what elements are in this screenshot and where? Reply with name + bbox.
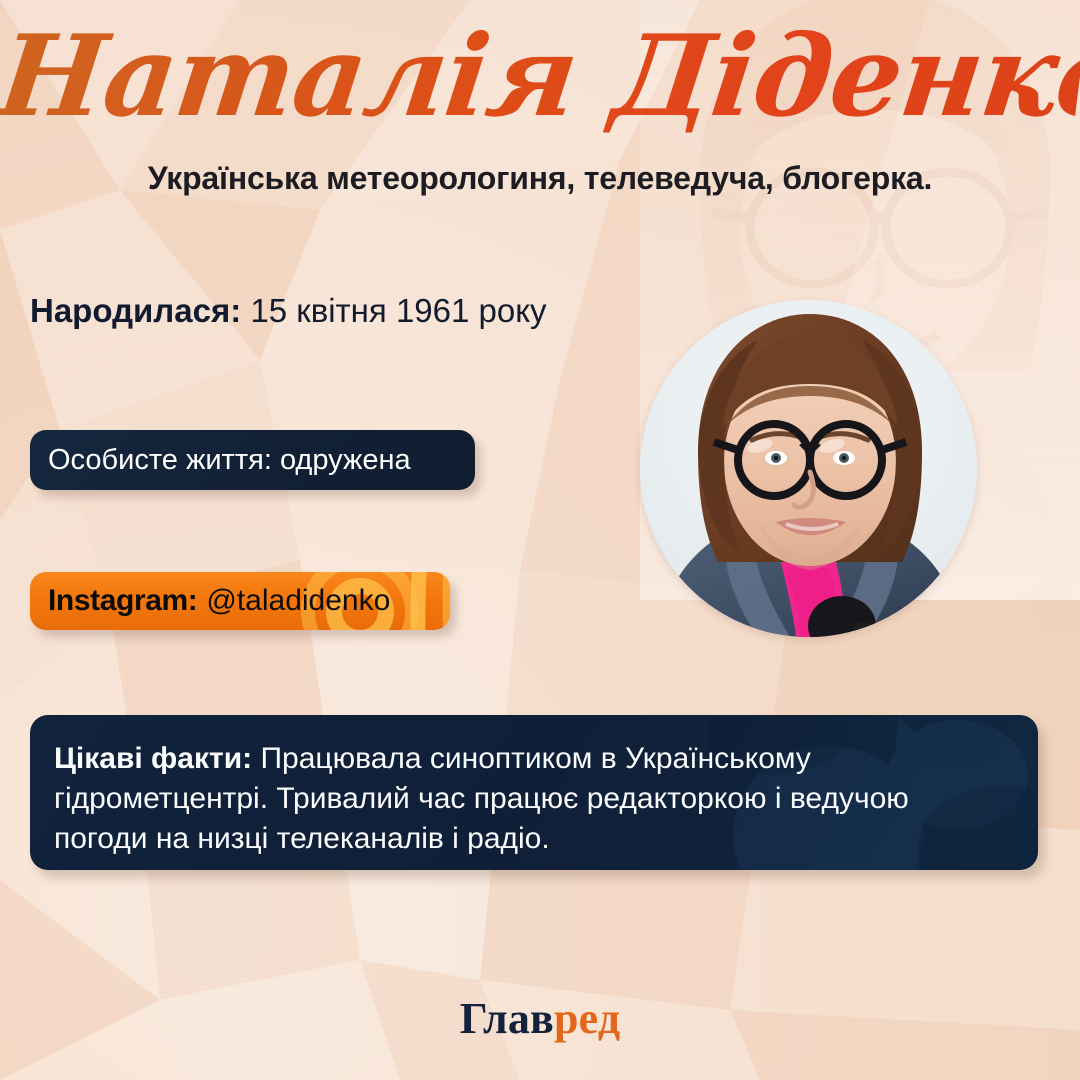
born-label: Народилася: <box>30 292 241 329</box>
infographic-card: Наталія Діденко Українська метеорологиня… <box>0 0 1080 1080</box>
site-logo[interactable]: Главред <box>0 993 1080 1044</box>
facts-text: Цікаві факти: Працювала синоптиком в Укр… <box>54 739 1008 859</box>
page-subtitle: Українська метеорологиня, телеведуча, бл… <box>0 160 1080 197</box>
born-line: Народилася: 15 квітня 1961 року <box>30 292 547 330</box>
facts-label: Цікаві факти: <box>54 742 252 775</box>
born-value: 15 квітня 1961 року <box>241 292 546 329</box>
portrait-photo <box>640 300 977 637</box>
page-title: Наталія Діденко <box>0 18 1080 136</box>
logo-part-glav: Глав <box>460 994 554 1043</box>
facts-box: Цікаві факти: Працювала синоптиком в Укр… <box>30 715 1038 870</box>
instagram-pill[interactable]: Instagram: @taladidenko <box>30 572 450 630</box>
instagram-handle[interactable]: @taladidenko <box>206 584 390 618</box>
instagram-label: Instagram: <box>48 584 197 618</box>
personal-life-pill[interactable]: Особисте життя: одружена <box>30 430 475 490</box>
logo-part-red: ред <box>554 994 620 1043</box>
personal-life-text: Особисте життя: одружена <box>48 444 411 477</box>
